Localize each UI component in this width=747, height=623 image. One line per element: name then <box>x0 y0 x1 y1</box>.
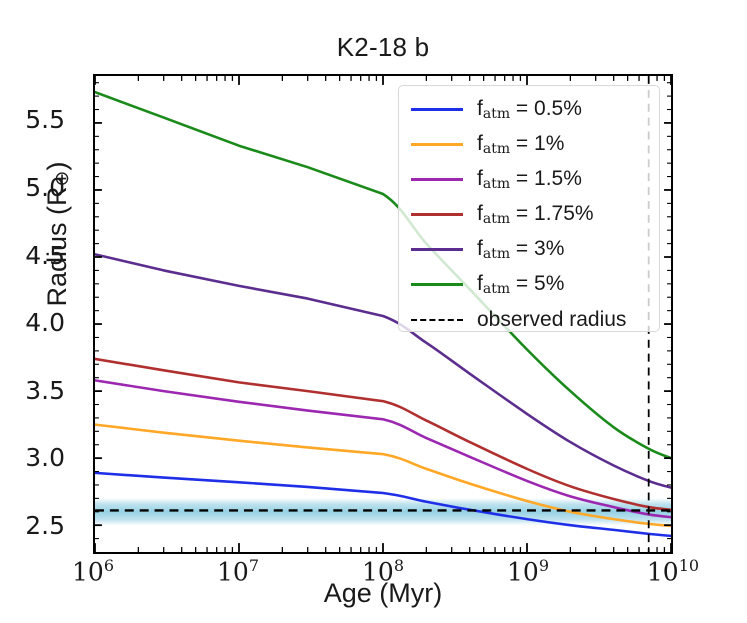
legend-item[interactable]: fatm = 5% <box>399 267 659 302</box>
legend-item-label: observed radius <box>477 308 626 332</box>
x-tick-label: 106 <box>48 556 138 586</box>
legend-item-observed-radius[interactable]: observed radius <box>399 302 659 337</box>
legend-color-swatch <box>411 178 463 181</box>
x-tick-label: 107 <box>193 556 283 586</box>
legend-item[interactable]: fatm = 1.75% <box>399 197 659 232</box>
y-tick-label: 5.0 <box>5 173 65 202</box>
legend-item-label: fatm = 0.5% <box>477 97 582 122</box>
legend-item-label: fatm = 1.75% <box>477 202 594 227</box>
legend-item-label: fatm = 5% <box>477 272 564 297</box>
x-tick-label: 1010 <box>628 556 718 586</box>
y-tick-label: 4.5 <box>5 241 65 270</box>
legend-item[interactable]: fatm = 3% <box>399 232 659 267</box>
observed-radius-band <box>95 498 671 525</box>
legend-color-swatch <box>411 213 463 216</box>
legend-item-label: fatm = 1% <box>477 132 564 157</box>
legend-color-swatch <box>411 143 463 146</box>
x-tick-label: 108 <box>338 556 428 586</box>
legend-color-swatch <box>411 108 463 111</box>
legend-item[interactable]: fatm = 0.5% <box>399 92 659 127</box>
figure-canvas: K2-18 b Radius (R⊕) Age (Myr) 2.53.03.54… <box>0 0 747 623</box>
legend-dashed-swatch <box>411 319 463 321</box>
y-tick-label: 4.0 <box>5 308 65 337</box>
legend-item-label: fatm = 1.5% <box>477 167 582 192</box>
x-tick-label: 109 <box>483 556 573 586</box>
legend: fatm = 0.5%fatm = 1%fatm = 1.5%fatm = 1.… <box>398 85 660 332</box>
legend-color-swatch <box>411 248 463 251</box>
legend-item[interactable]: fatm = 1% <box>399 127 659 162</box>
legend-color-swatch <box>411 283 463 286</box>
y-tick-label: 3.0 <box>5 443 65 472</box>
y-tick-label: 3.5 <box>5 376 65 405</box>
legend-item[interactable]: fatm = 1.5% <box>399 162 659 197</box>
legend-item-label: fatm = 3% <box>477 237 564 262</box>
y-tick-label: 2.5 <box>5 511 65 540</box>
y-tick-label: 5.5 <box>5 105 65 134</box>
page-title: K2-18 b <box>93 32 673 63</box>
